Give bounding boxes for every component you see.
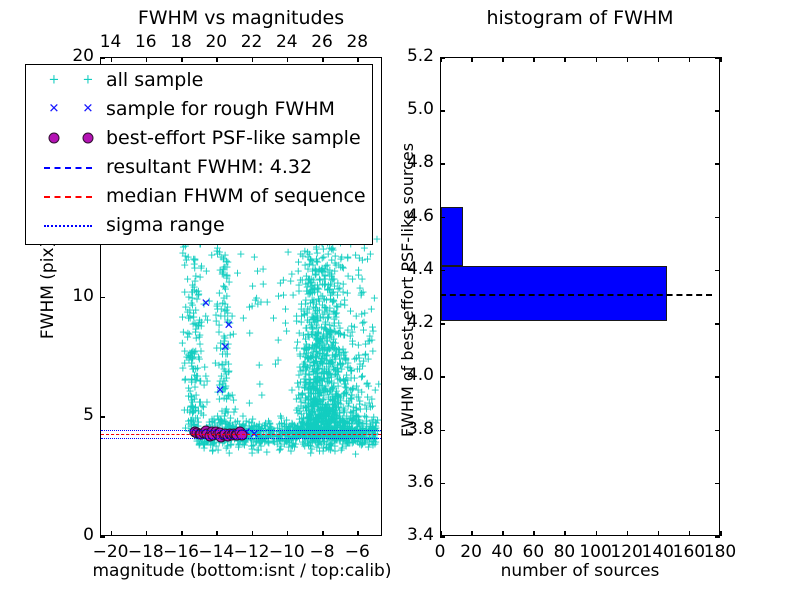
all-sample-point: +	[316, 386, 325, 397]
all-sample-point: +	[303, 251, 312, 262]
all-sample-point: +	[338, 414, 347, 425]
all-sample-point: +	[303, 417, 312, 428]
all-sample-point: +	[331, 390, 340, 401]
all-sample-point: +	[352, 402, 361, 413]
all-sample-point: +	[352, 412, 361, 423]
all-sample-point: +	[368, 422, 377, 433]
ytick-left	[440, 110, 445, 112]
all-sample-point: +	[267, 423, 276, 434]
all-sample-point: +	[338, 261, 347, 272]
all-sample-point: +	[370, 438, 379, 449]
all-sample-point: +	[331, 337, 340, 348]
xtick-top	[357, 57, 359, 62]
all-sample-point: +	[342, 383, 351, 394]
all-sample-point: +	[324, 423, 333, 434]
all-sample-point: +	[312, 352, 321, 363]
legend-entry-3[interactable]: resultant FWHM: 4.32	[26, 152, 372, 181]
all-sample-point: +	[302, 344, 311, 355]
all-sample-point: +	[346, 426, 355, 437]
all-sample-point: +	[179, 326, 188, 337]
all-sample-point: +	[253, 445, 262, 456]
all-sample-point: +	[220, 333, 229, 344]
all-sample-point: +	[315, 351, 324, 362]
all-sample-point: +	[358, 255, 367, 266]
all-sample-point: +	[192, 333, 201, 344]
all-sample-point: +	[313, 333, 322, 344]
all-sample-point: +	[331, 404, 340, 415]
ytick-left	[440, 323, 445, 325]
legend-entry-1[interactable]: ✕✕sample for rough FWHM	[26, 94, 372, 123]
all-sample-point: +	[211, 357, 220, 368]
all-sample-point: +	[355, 283, 364, 294]
all-sample-point: +	[250, 252, 259, 263]
all-sample-point: +	[303, 342, 312, 353]
all-sample-point: +	[319, 390, 328, 401]
all-sample-point: +	[338, 439, 347, 450]
all-sample-point: +	[191, 327, 200, 338]
all-sample-point: +	[302, 426, 311, 437]
all-sample-point: +	[329, 399, 338, 410]
all-sample-point: +	[371, 416, 380, 427]
all-sample-point: +	[218, 297, 227, 308]
all-sample-point: +	[202, 266, 211, 277]
all-sample-point: +	[328, 384, 337, 395]
all-sample-point: +	[319, 446, 328, 457]
all-sample-point: +	[334, 402, 343, 413]
all-sample-point: +	[226, 329, 235, 340]
all-sample-point: +	[185, 347, 194, 358]
all-sample-point: +	[233, 435, 242, 446]
all-sample-point: +	[327, 416, 336, 427]
all-sample-point: +	[313, 283, 322, 294]
all-sample-point: +	[185, 305, 194, 316]
all-sample-point: +	[308, 363, 317, 374]
all-sample-point: +	[328, 413, 337, 424]
all-sample-point: +	[215, 287, 224, 298]
all-sample-point: +	[330, 399, 339, 410]
all-sample-point: +	[185, 328, 194, 339]
xtick-top	[502, 57, 504, 62]
all-sample-point: +	[292, 423, 301, 434]
all-sample-point: +	[255, 422, 264, 433]
all-sample-point: +	[218, 266, 227, 277]
all-sample-point: +	[337, 251, 346, 262]
all-sample-point: +	[188, 364, 197, 375]
all-sample-point: +	[321, 400, 330, 411]
all-sample-point: +	[329, 378, 338, 389]
all-sample-point: +	[336, 357, 345, 368]
all-sample-point: +	[280, 419, 289, 430]
all-sample-point: +	[322, 419, 331, 430]
all-sample-point: +	[310, 423, 319, 434]
all-sample-point: +	[222, 393, 231, 404]
all-sample-point: +	[343, 419, 352, 430]
all-sample-point: +	[300, 397, 309, 408]
all-sample-point: +	[313, 247, 322, 258]
all-sample-point: +	[213, 248, 222, 259]
all-sample-point: +	[311, 385, 320, 396]
all-sample-point: +	[284, 435, 293, 446]
all-sample-point: +	[214, 415, 223, 426]
all-sample-point: +	[259, 426, 268, 437]
all-sample-point: +	[323, 375, 332, 386]
all-sample-point: +	[319, 243, 328, 254]
all-sample-point: +	[246, 426, 255, 437]
all-sample-point: +	[315, 264, 324, 275]
all-sample-point: +	[227, 422, 236, 433]
all-sample-point: +	[245, 397, 254, 408]
all-sample-point: +	[324, 444, 333, 455]
legend-entry-5[interactable]: sigma range	[26, 210, 372, 239]
xtick-bottom	[471, 531, 473, 536]
all-sample-point: +	[299, 305, 308, 316]
all-sample-point: +	[321, 413, 330, 424]
all-sample-point: +	[308, 294, 317, 305]
all-sample-point: +	[323, 345, 332, 356]
all-sample-point: +	[332, 345, 341, 356]
all-sample-point: +	[255, 419, 264, 430]
all-sample-point: +	[275, 426, 284, 437]
all-sample-point: +	[324, 311, 333, 322]
all-sample-point: +	[329, 403, 338, 414]
all-sample-point: +	[321, 415, 330, 426]
all-sample-point: +	[352, 410, 361, 421]
all-sample-point: +	[322, 351, 331, 362]
all-sample-point: +	[320, 368, 329, 379]
all-sample-point: +	[329, 296, 338, 307]
all-sample-point: +	[309, 357, 318, 368]
all-sample-point: +	[324, 434, 333, 445]
all-sample-point: +	[221, 430, 230, 441]
all-sample-point: +	[189, 318, 198, 329]
all-sample-point: +	[271, 358, 280, 369]
all-sample-point: +	[331, 368, 340, 379]
all-sample-point: +	[181, 251, 190, 262]
all-sample-point: +	[221, 250, 230, 261]
all-sample-point: +	[322, 415, 331, 426]
all-sample-point: +	[191, 413, 200, 424]
all-sample-point: +	[305, 316, 314, 327]
all-sample-point: +	[237, 430, 246, 441]
all-sample-point: +	[306, 412, 315, 423]
all-sample-point: +	[323, 285, 332, 296]
all-sample-point: +	[256, 296, 265, 307]
all-sample-point: +	[314, 294, 323, 305]
all-sample-point: +	[349, 402, 358, 413]
all-sample-point: +	[312, 375, 321, 386]
all-sample-point: +	[313, 416, 322, 427]
plot-legend: ++all sample✕✕sample for rough FWHMbest-…	[25, 64, 373, 245]
all-sample-point: +	[268, 435, 277, 446]
xtick-bottom	[216, 531, 218, 536]
all-sample-point: +	[210, 417, 219, 428]
all-sample-point: +	[301, 403, 310, 414]
all-sample-point: +	[223, 440, 232, 451]
all-sample-point: +	[311, 417, 320, 428]
all-sample-point: +	[321, 399, 330, 410]
all-sample-point: +	[330, 434, 339, 445]
all-sample-point: +	[311, 435, 320, 446]
all-sample-point: +	[262, 430, 271, 441]
all-sample-point: +	[317, 388, 326, 399]
all-sample-point: +	[317, 356, 326, 367]
plus-marker-icon: +	[49, 72, 60, 87]
xtick-top	[596, 57, 598, 62]
all-sample-point: +	[305, 388, 314, 399]
psf-sample-point	[190, 427, 201, 438]
all-sample-point: +	[221, 380, 230, 391]
all-sample-point: +	[185, 385, 194, 396]
all-sample-point: +	[302, 362, 311, 373]
ytick-right	[715, 270, 720, 272]
all-sample-point: +	[314, 403, 323, 414]
all-sample-point: +	[296, 376, 305, 387]
xtick-top	[252, 57, 254, 62]
all-sample-point: +	[280, 438, 289, 449]
all-sample-point: +	[330, 440, 339, 451]
all-sample-point: +	[325, 417, 334, 428]
all-sample-point: +	[223, 349, 232, 360]
all-sample-point: +	[324, 416, 333, 427]
all-sample-point: +	[219, 384, 228, 395]
all-sample-point: +	[296, 248, 305, 259]
all-sample-point: +	[336, 359, 345, 370]
all-sample-point: +	[330, 418, 339, 429]
all-sample-point: +	[339, 415, 348, 426]
xtick-top	[627, 57, 629, 62]
dashed-blue-line-icon	[44, 167, 92, 169]
all-sample-point: +	[340, 329, 349, 340]
all-sample-point: +	[354, 392, 363, 403]
all-sample-point: +	[318, 355, 327, 366]
all-sample-point: +	[307, 382, 316, 393]
xtick-top	[720, 57, 722, 62]
all-sample-point: +	[203, 423, 212, 434]
all-sample-point: +	[261, 423, 270, 434]
all-sample-point: +	[332, 403, 341, 414]
all-sample-point: +	[220, 383, 229, 394]
all-sample-point: +	[287, 440, 296, 451]
all-sample-point: +	[345, 413, 354, 424]
all-sample-point: +	[213, 444, 222, 455]
all-sample-point: +	[325, 319, 334, 330]
all-sample-point: +	[190, 347, 199, 358]
all-sample-point: +	[323, 368, 332, 379]
all-sample-point: +	[313, 360, 322, 371]
all-sample-point: +	[311, 329, 320, 340]
all-sample-point: +	[330, 351, 339, 362]
all-sample-point: +	[219, 269, 228, 280]
all-sample-point: +	[333, 392, 342, 403]
all-sample-point: +	[275, 435, 284, 446]
all-sample-point: +	[216, 414, 225, 425]
all-sample-point: +	[324, 399, 333, 410]
all-sample-point: +	[218, 386, 227, 397]
all-sample-point: +	[318, 309, 327, 320]
all-sample-point: +	[276, 440, 285, 451]
all-sample-point: +	[304, 275, 313, 286]
all-sample-point: +	[315, 445, 324, 456]
all-sample-point: +	[208, 445, 217, 456]
all-sample-point: +	[343, 431, 352, 442]
all-sample-point: +	[218, 382, 227, 393]
all-sample-point: +	[355, 439, 364, 450]
all-sample-point: +	[188, 279, 197, 290]
all-sample-point: +	[336, 254, 345, 265]
all-sample-point: +	[320, 263, 329, 274]
all-sample-point: +	[221, 419, 230, 430]
all-sample-point: +	[325, 409, 334, 420]
all-sample-point: +	[315, 337, 324, 348]
all-sample-point: +	[222, 372, 231, 383]
all-sample-point: +	[314, 440, 323, 451]
all-sample-point: +	[190, 285, 199, 296]
all-sample-point: +	[316, 407, 325, 418]
all-sample-point: +	[304, 394, 313, 405]
all-sample-point: +	[316, 415, 325, 426]
all-sample-point: +	[311, 264, 320, 275]
all-sample-point: +	[310, 395, 319, 406]
all-sample-point: +	[207, 413, 216, 424]
all-sample-point: +	[322, 409, 331, 420]
all-sample-point: +	[309, 374, 318, 385]
all-sample-point: +	[294, 280, 303, 291]
all-sample-point: +	[318, 278, 327, 289]
psf-sample-point	[204, 430, 215, 441]
all-sample-point: +	[325, 439, 334, 450]
all-sample-point: +	[309, 314, 318, 325]
all-sample-point: +	[355, 364, 364, 375]
all-sample-point: +	[319, 367, 328, 378]
all-sample-point: +	[345, 417, 354, 428]
ytick-right	[715, 217, 720, 219]
all-sample-point: +	[326, 324, 335, 335]
ytick-left	[100, 297, 105, 299]
all-sample-point: +	[301, 369, 310, 380]
all-sample-point: +	[191, 390, 200, 401]
all-sample-point: +	[330, 266, 339, 277]
all-sample-point: +	[317, 427, 326, 438]
all-sample-point: +	[297, 298, 306, 309]
all-sample-point: +	[306, 427, 315, 438]
all-sample-point: +	[309, 377, 318, 388]
all-sample-point: +	[195, 314, 204, 325]
all-sample-point: +	[259, 434, 268, 445]
all-sample-point: +	[245, 302, 254, 313]
all-sample-point: +	[286, 422, 295, 433]
all-sample-point: +	[248, 447, 257, 458]
all-sample-point: +	[304, 400, 313, 411]
psf-sample-point	[235, 426, 246, 437]
all-sample-point: +	[311, 308, 320, 319]
all-sample-point: +	[320, 270, 329, 281]
legend-entry-4[interactable]: median FHWM of sequence	[26, 181, 372, 210]
all-sample-point: +	[188, 293, 197, 304]
all-sample-point: +	[325, 270, 334, 281]
all-sample-point: +	[192, 320, 201, 331]
all-sample-point: +	[313, 256, 322, 267]
all-sample-point: +	[190, 318, 199, 329]
all-sample-point: +	[315, 422, 324, 433]
all-sample-point: +	[188, 352, 197, 363]
all-sample-point: +	[183, 404, 192, 415]
all-sample-point: +	[202, 397, 211, 408]
all-sample-point: +	[313, 370, 322, 381]
all-sample-point: +	[180, 357, 189, 368]
all-sample-point: +	[220, 435, 229, 446]
legend-entry-0[interactable]: ++all sample	[26, 65, 372, 94]
all-sample-point: +	[290, 419, 299, 430]
all-sample-point: +	[264, 415, 273, 426]
all-sample-point: +	[252, 426, 261, 437]
all-sample-point: +	[331, 351, 340, 362]
all-sample-point: +	[286, 431, 295, 442]
all-sample-point: +	[217, 416, 226, 427]
all-sample-point: +	[361, 349, 370, 360]
all-sample-point: +	[301, 278, 310, 289]
all-sample-point: +	[298, 418, 307, 429]
all-sample-point: +	[324, 249, 333, 260]
all-sample-point: +	[328, 415, 337, 426]
all-sample-point: +	[313, 305, 322, 316]
all-sample-point: +	[318, 337, 327, 348]
ytick-right	[715, 163, 720, 165]
all-sample-point: +	[315, 274, 324, 285]
all-sample-point: +	[357, 386, 366, 397]
all-sample-point: +	[303, 263, 312, 274]
all-sample-point: +	[302, 308, 311, 319]
all-sample-point: +	[327, 440, 336, 451]
all-sample-point: +	[341, 387, 350, 398]
all-sample-point: +	[327, 327, 336, 338]
all-sample-point: +	[305, 409, 314, 420]
all-sample-point: +	[354, 411, 363, 422]
all-sample-point: +	[223, 301, 232, 312]
all-sample-point: +	[301, 352, 310, 363]
all-sample-point: +	[358, 371, 367, 382]
all-sample-point: +	[221, 349, 230, 360]
all-sample-point: +	[215, 375, 224, 386]
all-sample-point: +	[318, 253, 327, 264]
all-sample-point: +	[341, 354, 350, 365]
all-sample-point: +	[324, 359, 333, 370]
all-sample-point: +	[326, 384, 335, 395]
all-sample-point: +	[333, 365, 342, 376]
all-sample-point: +	[345, 419, 354, 430]
all-sample-point: +	[326, 358, 335, 369]
all-sample-point: +	[310, 317, 319, 328]
all-sample-point: +	[313, 385, 322, 396]
all-sample-point: +	[289, 438, 298, 449]
all-sample-point: +	[253, 265, 262, 276]
all-sample-point: +	[315, 394, 324, 405]
legend-label: median FHWM of sequence	[106, 186, 366, 206]
legend-label: sigma range	[106, 215, 225, 235]
all-sample-point: +	[336, 413, 345, 424]
all-sample-point: +	[296, 401, 305, 412]
all-sample-point: +	[254, 423, 263, 434]
all-sample-point: +	[314, 334, 323, 345]
all-sample-point: +	[194, 352, 203, 363]
all-sample-point: +	[339, 423, 348, 434]
legend-entry-2[interactable]: best-effort PSF-like sample	[26, 123, 372, 152]
all-sample-point: +	[326, 278, 335, 289]
all-sample-point: +	[341, 381, 350, 392]
all-sample-point: +	[348, 335, 357, 346]
all-sample-point: +	[341, 379, 350, 390]
all-sample-point: +	[225, 420, 234, 431]
all-sample-point: +	[301, 333, 310, 344]
